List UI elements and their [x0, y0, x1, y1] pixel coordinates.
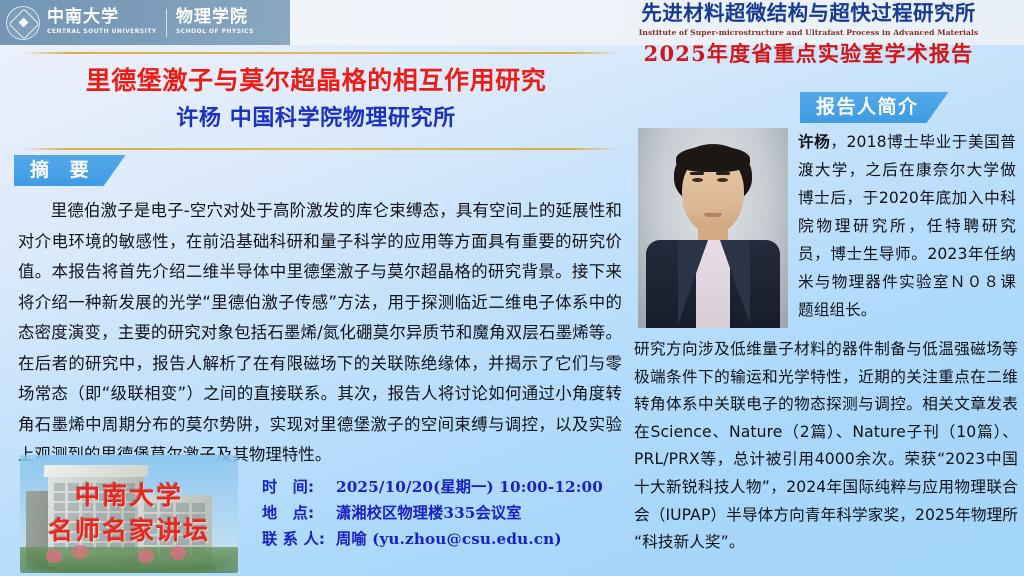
university-name-cn: 中南大学	[47, 9, 157, 27]
institute-heading: 先进材料超微结构与超快过程研究所 Institute of Super-micr…	[601, 1, 1016, 68]
forum-line-1: 中南大学	[20, 481, 238, 512]
school-name-group: 物理学院 SCHOOL OF PHYSICS	[176, 9, 254, 36]
event-place-label: 地 点:	[262, 500, 336, 526]
institute-name-cn: 先进材料超微结构与超快过程研究所	[601, 1, 1016, 27]
logo-divider	[166, 9, 167, 37]
portrait-brow-right	[716, 172, 730, 175]
event-contact-value: 周喻 (yu.zhou@csu.edu.cn)	[336, 526, 562, 552]
divider-rule-top	[20, 52, 620, 54]
divider-rule-middle	[20, 148, 620, 150]
bio-intro-head: 许杨，2018博士毕业于美国普渡大学，之后在康奈尔大学做博士后，于2020年底加…	[798, 128, 1016, 324]
school-name-en: SCHOOL OF PHYSICS	[176, 28, 254, 36]
school-name-cn: 物理学院	[176, 9, 254, 27]
flower-bloom	[72, 545, 88, 559]
talk-speaker-affiliation: 许杨 中国科学院物理研究所	[10, 106, 622, 132]
university-name-group: 中南大学 CENTRAL SOUTH UNIVERSITY	[47, 9, 157, 36]
portrait-fringe	[676, 146, 750, 172]
portrait-brow-left	[690, 172, 704, 175]
flower-bloom	[138, 549, 154, 563]
event-place-value: 潇湘校区物理楼335会议室	[336, 500, 522, 526]
portrait-eye-left	[692, 178, 703, 182]
abstract-ribbon-label: 摘 要	[30, 161, 96, 180]
report-series-title: 2025年度省重点实验室学术报告	[601, 40, 1016, 67]
portrait-lapel-left	[678, 240, 708, 324]
university-name-en: CENTRAL SOUTH UNIVERSITY	[47, 28, 157, 36]
flower-bloom	[170, 546, 186, 560]
bio-speaker-name: 许杨	[798, 133, 830, 151]
bio-intro-body: 研究方向涉及低维量子材料的器件制备与低温强磁场等极端条件下的输运和光学特性，近期…	[634, 336, 1018, 557]
talk-title: 里德堡激子与莫尔超晶格的相互作用研究	[10, 66, 622, 96]
forum-brand-photo: 中南大学 名师名家讲坛	[20, 455, 238, 573]
forum-line-2: 名师名家讲坛	[20, 516, 238, 547]
bio-intro-head-text: ，2018博士毕业于美国普渡大学，之后在康奈尔大学做博士后，于2020年底加入中…	[798, 133, 1016, 319]
event-place-row: 地 点: 潇湘校区物理楼335会议室	[262, 500, 603, 526]
abstract-section-ribbon: 摘 要	[14, 155, 126, 186]
event-details: 时 间: 2025/10/20(星期一) 10:00-12:00 地 点: 潇湘…	[262, 474, 603, 552]
speaker-portrait-photo	[638, 128, 788, 328]
event-time-value: 2025/10/20(星期一) 10:00-12:00	[336, 474, 603, 500]
event-contact-label: 联 系 人:	[262, 526, 336, 552]
portrait-lapel-right	[720, 240, 750, 324]
bio-section-ribbon: 报告人简介	[800, 92, 949, 123]
seminar-poster: 中南大学 CENTRAL SOUTH UNIVERSITY 物理学院 SCHOO…	[0, 0, 1024, 576]
university-logo: 中南大学 CENTRAL SOUTH UNIVERSITY 物理学院 SCHOO…	[0, 0, 290, 45]
abstract-text: 里德伯激子是电子-空穴对处于高阶激发的库仑束缚态，具有空间上的延展性和对介电环境…	[18, 196, 622, 471]
portrait-eye-right	[717, 178, 728, 182]
flower-bloom	[46, 549, 62, 563]
bio-ribbon-label: 报告人简介	[816, 98, 919, 117]
event-contact-row: 联 系 人: 周喻 (yu.zhou@csu.edu.cn)	[262, 526, 603, 552]
event-time-label: 时 间:	[262, 474, 336, 500]
event-time-row: 时 间: 2025/10/20(星期一) 10:00-12:00	[262, 474, 603, 500]
university-seal-icon	[6, 6, 40, 40]
institute-name-en: Institute of Super-microstructure and Ul…	[601, 28, 1016, 39]
forum-brand-text: 中南大学 名师名家讲坛	[20, 481, 238, 546]
portrait-mouth	[704, 213, 722, 217]
building-roof	[43, 465, 148, 477]
